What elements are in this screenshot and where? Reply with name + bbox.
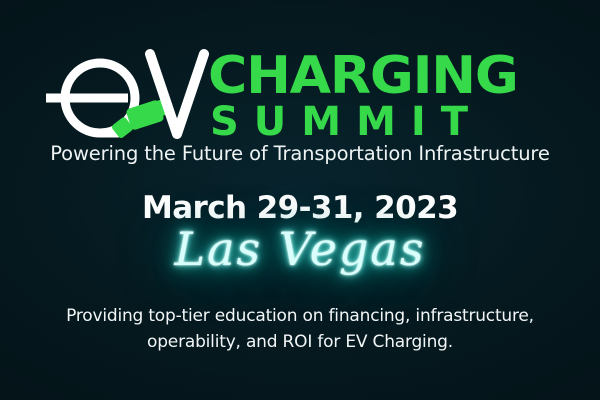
event-city: Las Vegas <box>0 222 600 276</box>
wordmark-summit: SUMMIT <box>210 102 483 142</box>
ev-charging-summit-poster: CHARGING SUMMIT Powering the Future of T… <box>0 0 600 400</box>
event-description-line-1: Providing top-tier education on financin… <box>66 306 534 326</box>
wordmark: CHARGING SUMMIT <box>208 50 564 148</box>
ev-charging-plug-icon <box>44 48 219 148</box>
event-description: Providing top-tier education on financin… <box>60 303 540 355</box>
event-description-line-2: operability, and ROI for EV Charging. <box>60 329 540 355</box>
wordmark-charging: CHARGING <box>208 50 518 102</box>
logo-lockup: CHARGING SUMMIT <box>0 48 600 148</box>
tagline: Powering the Future of Transportation In… <box>0 142 600 165</box>
event-dates: March 29-31, 2023 <box>0 190 600 226</box>
